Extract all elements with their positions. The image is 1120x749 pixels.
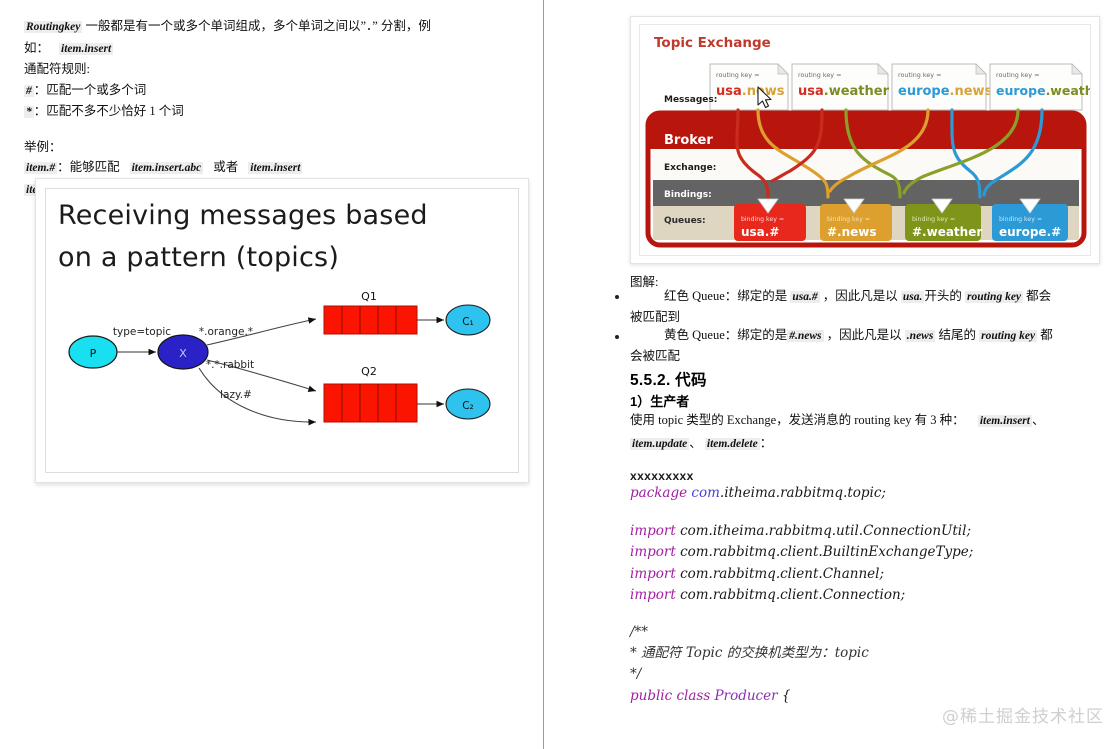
text-line-example-hash: item.#：能够匹配item.insert.abc或者item.insert xyxy=(24,157,524,179)
text-or: 或者 xyxy=(213,160,238,174)
svg-text:Q2: Q2 xyxy=(361,365,377,378)
legend-1-pre: 红色 Queue：绑定的是 xyxy=(664,289,787,303)
svg-text:#.weather: #.weather xyxy=(912,225,982,239)
svg-text:C₂: C₂ xyxy=(462,400,474,412)
svg-text:europe.weather: europe.weather xyxy=(996,83,1091,98)
spacer xyxy=(24,123,524,137)
svg-text:routing key =: routing key = xyxy=(898,71,941,79)
sep-2: 、 xyxy=(689,436,702,450)
svg-text:Messages:: Messages: xyxy=(664,95,717,105)
code-item-update-key: item.update xyxy=(630,438,689,450)
routingkey-explanation-block: Routingkey 一般都是有一个或多个单词组成，多个单词之间以”．” 分割，… xyxy=(24,16,524,200)
text-line-wildcard-rules: 通配符规则: xyxy=(24,59,524,80)
svg-text:usa.weather: usa.weather xyxy=(798,84,890,99)
svg-text:europe.news: europe.news xyxy=(898,84,993,99)
svg-text:X: X xyxy=(179,347,187,360)
watermark: @稀土掘金技术社区 xyxy=(942,702,1104,727)
topics-figure-graphic: P X type=topic *.orange.* *.*.rabbit laz… xyxy=(36,179,528,482)
legend-1-post: 都会 xyxy=(1026,289,1051,303)
text-can-match: ：能够匹配 xyxy=(57,160,120,174)
svg-text:Q1: Q1 xyxy=(361,290,377,303)
legend-2-code-routingkey: routing key xyxy=(979,330,1037,342)
legend-1-code-usa-hash: usa.# xyxy=(790,291,819,303)
left-column: Routingkey 一般都是有一个或多个单词组成，多个单词之间以”．” 分割，… xyxy=(0,0,543,749)
text-hash-rule: ：匹配一个或多个词 xyxy=(34,83,147,97)
text-routingkey-desc: 一般都是有一个或多个单词组成，多个单词之间以”．” 分割，例 xyxy=(82,19,431,33)
svg-text:#.news: #.news xyxy=(827,225,877,239)
code-item-hash: item.# xyxy=(24,162,57,174)
svg-text:Topic Exchange: Topic Exchange xyxy=(654,35,771,51)
svg-text:type=topic: type=topic xyxy=(113,326,171,338)
svg-text:europe.#: europe.# xyxy=(999,225,1061,239)
class-name-producer: Producer xyxy=(715,688,778,704)
kw-import-2: import xyxy=(630,544,676,560)
svg-text:routing key =: routing key = xyxy=(798,71,841,79)
legend-item-1: 红色 Queue：绑定的是 usa.# ，因此凡是以 usa.开头的 routi… xyxy=(630,286,1110,327)
svg-text:binding key =: binding key = xyxy=(827,216,870,223)
code-star: * xyxy=(24,106,34,118)
term-routingkey: Routingkey xyxy=(24,21,82,33)
legend-1-wrap: 被匹配到 xyxy=(630,307,1110,327)
svg-text:usa.#: usa.# xyxy=(741,225,779,239)
code-line-comment-body: * 通配符 Topic 的交换机类型为：topic xyxy=(630,642,1110,664)
legend-bullet-1 xyxy=(615,295,619,299)
legend-2-code-news: .news xyxy=(905,330,936,342)
code-line-import-4: import com.rabbitmq.client.Connection; xyxy=(630,584,1110,606)
pkg-com: com xyxy=(691,485,720,501)
svg-text:Broker: Broker xyxy=(664,133,713,148)
code-item-delete-key: item.delete xyxy=(705,438,760,450)
topic-exchange-graphic: Topic Exchange routing key = usa.news ro… xyxy=(640,25,1091,256)
legend-2-mid2: 结尾的 xyxy=(938,328,976,342)
text-line-examples-heading: 举例： xyxy=(24,137,524,158)
svg-text:binding key =: binding key = xyxy=(999,216,1042,223)
text-line-routingkey: Routingkey 一般都是有一个或多个单词组成，多个单词之间以”．” 分割，… xyxy=(24,16,524,38)
kw-import-1: import xyxy=(630,523,676,539)
pkg-rest: .itheima.rabbitmq.topic; xyxy=(720,485,886,501)
svg-text:routing key =: routing key = xyxy=(996,71,1039,79)
sep-1: 、 xyxy=(1032,413,1045,427)
svg-text:P: P xyxy=(90,347,97,360)
text-line-hash-rule: #：匹配一个或多个词 xyxy=(24,80,524,102)
text-line-star-rule: *：匹配不多不少恰好 1 个词 xyxy=(24,101,524,123)
section-body-pre: 使用 topic 类型的 Exchange，发送消息的 routing key … xyxy=(630,413,965,427)
legend-2-code-hash-news: #.news xyxy=(787,330,823,342)
code-item-insert-1: item.insert xyxy=(59,43,113,55)
text-star-rule: ：匹配不多不少恰好 1 个词 xyxy=(34,104,184,118)
svg-text:C₁: C₁ xyxy=(462,316,474,328)
svg-text:binding key =: binding key = xyxy=(912,216,955,223)
legend-1-mid2: 开头的 xyxy=(924,289,962,303)
import-3-path: com.rabbitmq.client.Channel; xyxy=(676,566,884,582)
code-line-comment-open: /** xyxy=(630,621,1110,643)
kw-import-4: import xyxy=(630,587,676,603)
import-4-path: com.rabbitmq.client.Connection; xyxy=(676,587,905,603)
right-column: Topic Exchange routing key = usa.news ro… xyxy=(544,0,1120,749)
import-2-path: com.rabbitmq.client.BuiltinExchangeType; xyxy=(676,544,974,560)
svg-text:Exchange:: Exchange: xyxy=(664,163,716,173)
text-line-example-intro: 如：item.insert xyxy=(24,38,524,60)
code-hash: # xyxy=(24,85,34,97)
legend-2-mid: ，因此凡是以 xyxy=(827,328,902,342)
section-subheading-producer: 1）生产者 xyxy=(630,392,1110,412)
label-wildcard-rules: 通配符规则: xyxy=(24,62,90,76)
legend-2-wrap: 会被匹配 xyxy=(630,346,1110,366)
legend-1-code-routingkey: routing key xyxy=(965,291,1023,303)
code-line-comment-close: */ xyxy=(630,663,1110,685)
svg-text:Bindings:: Bindings: xyxy=(664,190,712,200)
code-item-insert-key: item.insert xyxy=(978,415,1032,427)
kw-import-3: import xyxy=(630,566,676,582)
code-line-import-3: import com.rabbitmq.client.Channel; xyxy=(630,563,1110,585)
svg-text:Queues:: Queues: xyxy=(664,216,706,226)
code-line-import-1: import com.itheima.rabbitmq.util.Connect… xyxy=(630,520,1110,542)
legend-2-post: 都 xyxy=(1040,328,1053,342)
svg-text:lazy.#: lazy.# xyxy=(220,389,252,401)
code-line-package: package com.itheima.rabbitmq.topic; xyxy=(630,482,1110,504)
topics-pattern-figure: Receiving messages based on a pattern (t… xyxy=(35,178,529,483)
legend-bullet-2 xyxy=(615,335,619,339)
label-examples: 举例： xyxy=(24,140,62,154)
code-item-insert-2: item.insert xyxy=(248,162,302,174)
legend-2-pre: 黄色 Queue：绑定的是 xyxy=(664,328,787,342)
topic-exchange-figure-inner: Topic Exchange routing key = usa.news ro… xyxy=(639,24,1091,256)
sep-end: ： xyxy=(760,436,773,450)
svg-text:binding key =: binding key = xyxy=(741,216,784,223)
legend-1-code-usa: usa. xyxy=(901,291,925,303)
document-page: Routingkey 一般都是有一个或多个单词组成，多个单词之间以”．” 分割，… xyxy=(0,0,1120,749)
legend-1-mid: ，因此凡是以 xyxy=(823,289,898,303)
topic-exchange-figure: Topic Exchange routing key = usa.news ro… xyxy=(630,16,1100,264)
section-heading-552: 5.5.2. 代码 xyxy=(630,371,1110,391)
import-1-path: com.itheima.rabbitmq.util.ConnectionUtil… xyxy=(676,523,971,539)
label-ruru: 如： xyxy=(24,41,49,55)
svg-text:*.*.rabbit: *.*.rabbit xyxy=(206,359,254,371)
section-body-routing-keys: 使用 topic 类型的 Exchange，发送消息的 routing key … xyxy=(630,410,1110,454)
kw-package: package xyxy=(630,485,687,501)
legend-item-2: 黄色 Queue：绑定的是#.news ，因此凡是以 .news 结尾的 rou… xyxy=(630,325,1110,366)
code-item-insert-abc: item.insert.abc xyxy=(130,162,204,174)
brace-open: { xyxy=(778,688,791,704)
svg-text:routing key =: routing key = xyxy=(716,71,759,79)
code-line-import-2: import com.rabbitmq.client.BuiltinExchan… xyxy=(630,541,1110,563)
svg-text:*.orange.*: *.orange.* xyxy=(199,326,253,338)
kw-public-class: public class xyxy=(630,688,710,704)
svg-text:usa.news: usa.news xyxy=(716,84,785,99)
